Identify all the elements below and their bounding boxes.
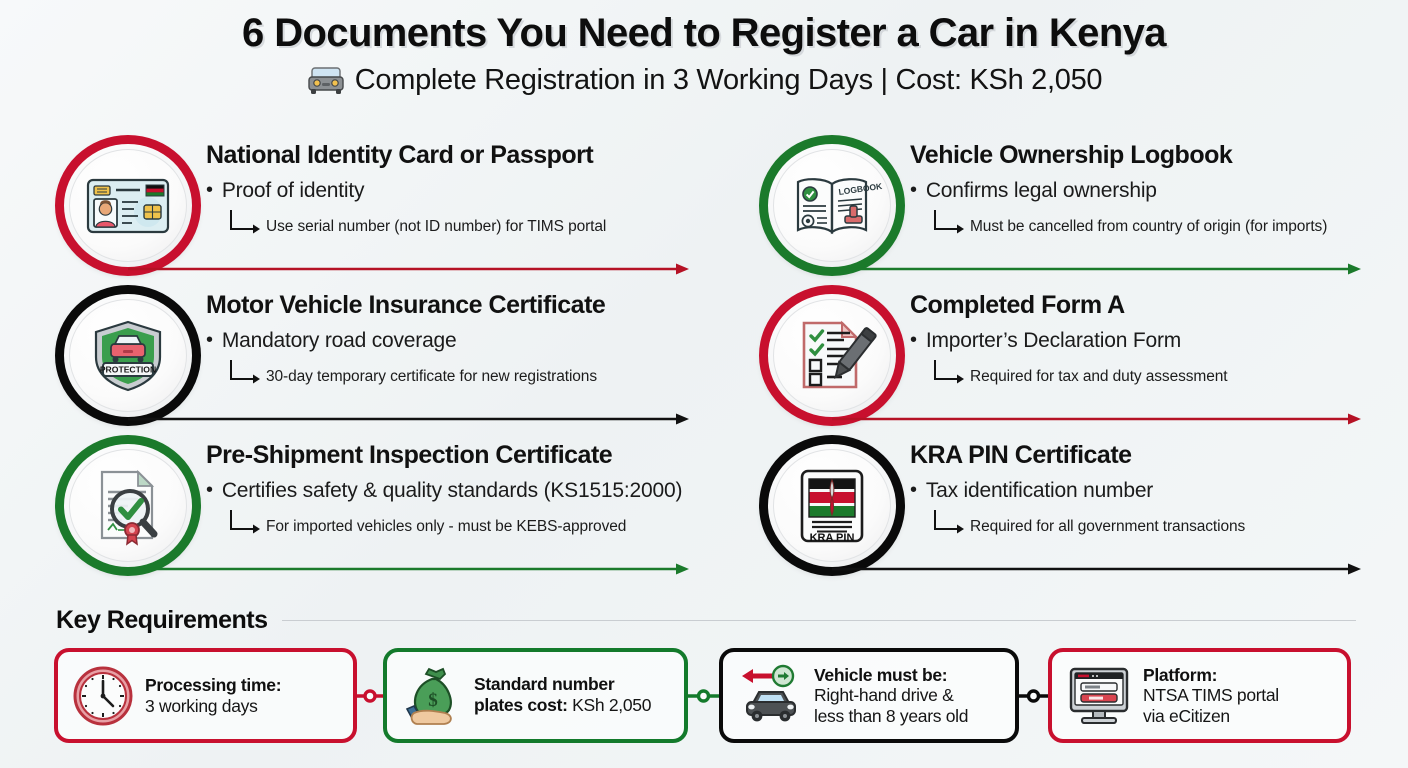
bullet-text: Importer’s Declaration Form: [926, 329, 1181, 353]
kr-strong-line: Processing time:: [145, 675, 281, 696]
documents-row-3: Pre-Shipment Inspection Certificate • Ce…: [0, 432, 1408, 582]
key-requirement-text: Processing time: 3 working days: [145, 675, 281, 716]
document-title: Motor Vehicle Insurance Certificate: [206, 292, 698, 320]
key-requirements-header: Key Requirements: [56, 606, 1356, 635]
bullet-dot: •: [910, 179, 917, 203]
section-divider: [282, 620, 1356, 621]
document-badge-1: [58, 138, 198, 273]
kr-normal-line-2: less than 8 years old: [814, 706, 968, 727]
two-way-arrows-car-icon: [737, 665, 803, 727]
key-requirements-title: Key Requirements: [56, 606, 268, 635]
flow-arrow-red: [128, 262, 690, 276]
money-bag-icon: $: [401, 665, 463, 727]
document-bullet: • Mandatory road coverage: [206, 329, 698, 353]
document-card-5[interactable]: Pre-Shipment Inspection Certificate • Ce…: [0, 432, 704, 582]
document-subnote: Required for all government transactions: [910, 507, 1402, 537]
elbow-arrow-icon: [932, 509, 966, 537]
document-bullet: • Importer’s Declaration Form: [910, 329, 1402, 353]
document-text-1: National Identity Card or Passport • Pro…: [206, 142, 698, 237]
document-card-3[interactable]: PROTECTION Motor Vehicle Insurance Certi…: [0, 282, 704, 432]
bullet-text: Confirms legal ownership: [926, 179, 1157, 203]
elbow-arrow-icon: [228, 359, 262, 387]
subnote-text: Use serial number (not ID number) for TI…: [266, 218, 606, 237]
document-bullet: • Confirms legal ownership: [910, 179, 1402, 203]
shield-label: PROTECTION: [100, 364, 156, 374]
kr-strong-line: Platform:: [1143, 665, 1279, 686]
document-title: Pre-Shipment Inspection Certificate: [206, 442, 698, 470]
document-bullet: • Tax identification number: [910, 479, 1402, 503]
elbow-arrow-icon: [228, 509, 262, 537]
document-subnote: Required for tax and duty assessment: [910, 357, 1402, 387]
kr-normal-line: KSh 2,050: [572, 695, 651, 715]
kra-pin-icon: KRA PIN: [799, 468, 865, 544]
key-requirements-row: Processing time: 3 working days $ Standa…: [0, 648, 1408, 748]
subnote-text: Required for tax and duty assessment: [970, 368, 1227, 387]
document-title: Completed Form A: [910, 292, 1402, 320]
kr-normal-line-2: via eCitizen: [1143, 706, 1279, 727]
document-bullet: • Proof of identity: [206, 179, 698, 203]
document-card-1[interactable]: National Identity Card or Passport • Pro…: [0, 132, 704, 282]
document-badge-6: KRA PIN: [762, 438, 902, 573]
kr-normal-line: NTSA TIMS portal: [1143, 685, 1279, 706]
bullet-dot: •: [206, 329, 213, 353]
document-badge-3: PROTECTION: [58, 288, 198, 423]
key-requirement-3[interactable]: Vehicle must be: Right-hand drive & less…: [719, 648, 1019, 743]
checklist-pen-icon: [792, 319, 872, 393]
connector-1: [357, 688, 383, 704]
key-requirement-text: Platform: NTSA TIMS portal via eCitizen: [1143, 665, 1279, 727]
document-text-5: Pre-Shipment Inspection Certificate • Ce…: [206, 442, 698, 537]
bullet-dot: •: [206, 179, 213, 203]
car-icon: [306, 65, 346, 95]
documents-grid: National Identity Card or Passport • Pro…: [0, 132, 1408, 582]
infographic-header: 6 Documents You Need to Register a Car i…: [0, 0, 1408, 98]
kr-strong-line: Standard number: [474, 674, 651, 695]
document-badge-4: [762, 288, 902, 423]
document-bullet: • Certifies safety & quality standards (…: [206, 479, 698, 503]
bullet-text: Tax identification number: [926, 479, 1153, 503]
connector-2: [688, 688, 719, 704]
document-text-3: Motor Vehicle Insurance Certificate • Ma…: [206, 292, 698, 387]
clock-icon: [72, 665, 134, 727]
flow-arrow-red: [832, 412, 1362, 426]
key-requirement-4[interactable]: Platform: NTSA TIMS portal via eCitizen: [1048, 648, 1351, 743]
flow-arrow-green: [832, 262, 1362, 276]
flow-arrow-green: [128, 562, 690, 576]
elbow-arrow-icon: [228, 209, 262, 237]
document-badge-5: [58, 438, 198, 573]
bullet-text: Mandatory road coverage: [222, 329, 457, 353]
bullet-dot: •: [910, 329, 917, 353]
kr-strong-line: Vehicle must be:: [814, 665, 968, 686]
logbook-icon: LOGBOOK: [790, 172, 874, 240]
document-card-6[interactable]: KRA PIN KRA PIN Certificate • Tax identi…: [704, 432, 1408, 582]
document-badge-2: LOGBOOK: [762, 138, 902, 273]
subnote-text: 30-day temporary certificate for new reg…: [266, 368, 597, 387]
elbow-arrow-icon: [932, 359, 966, 387]
document-text-6: KRA PIN Certificate • Tax identification…: [910, 442, 1402, 537]
kr-second-line: plates cost: KSh 2,050: [474, 695, 651, 717]
documents-row-1: National Identity Card or Passport • Pro…: [0, 132, 1408, 282]
document-card-2[interactable]: LOGBOOK Vehicle Ownership Logbook • Conf…: [704, 132, 1408, 282]
key-requirement-text: Vehicle must be: Right-hand drive & less…: [814, 665, 968, 727]
svg-text:$: $: [428, 690, 438, 711]
document-subnote: For imported vehicles only - must be KEB…: [206, 507, 698, 537]
key-requirement-text: Standard number plates cost: KSh 2,050: [474, 674, 651, 717]
connector-3: [1019, 688, 1048, 704]
kr-strong-line-2: plates cost:: [474, 695, 568, 715]
bullet-dot: •: [910, 479, 917, 503]
shield-car-icon: PROTECTION: [88, 319, 168, 393]
page-title: 6 Documents You Need to Register a Car i…: [0, 10, 1408, 56]
flow-arrow-black: [128, 412, 690, 426]
id-card-icon: [86, 176, 170, 236]
document-title: KRA PIN Certificate: [910, 442, 1402, 470]
bullet-text: Proof of identity: [222, 179, 365, 203]
bullet-dot: •: [206, 479, 213, 503]
subnote-text: For imported vehicles only - must be KEB…: [266, 518, 626, 537]
kr-normal-line: 3 working days: [145, 696, 281, 717]
key-requirement-2[interactable]: $ Standard number plates cost: KSh 2,050: [383, 648, 688, 743]
document-subnote: Must be cancelled from country of origin…: [910, 207, 1402, 237]
document-subnote: Use serial number (not ID number) for TI…: [206, 207, 698, 237]
documents-row-2: PROTECTION Motor Vehicle Insurance Certi…: [0, 282, 1408, 432]
kr-normal-line: Right-hand drive &: [814, 685, 968, 706]
document-title: National Identity Card or Passport: [206, 142, 698, 170]
flow-arrow-black: [832, 562, 1362, 576]
document-text-2: Vehicle Ownership Logbook • Confirms leg…: [910, 142, 1402, 237]
bullet-text: Certifies safety & quality standards (KS…: [222, 479, 682, 503]
monitor-icon: [1066, 665, 1132, 727]
subnote-text: Required for all government transactions: [970, 518, 1245, 537]
kra-pin-label: KRA PIN: [810, 532, 855, 544]
elbow-arrow-icon: [932, 209, 966, 237]
document-card-4[interactable]: Completed Form A • Importer’s Declaratio…: [704, 282, 1408, 432]
document-title: Vehicle Ownership Logbook: [910, 142, 1402, 170]
document-text-4: Completed Form A • Importer’s Declaratio…: [910, 292, 1402, 387]
document-subnote: 30-day temporary certificate for new reg…: [206, 357, 698, 387]
subtitle-text: Complete Registration in 3 Working Days …: [355, 62, 1102, 98]
document-magnifier-icon: [88, 468, 168, 544]
page-subtitle: Complete Registration in 3 Working Days …: [0, 62, 1408, 98]
key-requirement-1[interactable]: Processing time: 3 working days: [54, 648, 357, 743]
subnote-text: Must be cancelled from country of origin…: [970, 218, 1327, 237]
